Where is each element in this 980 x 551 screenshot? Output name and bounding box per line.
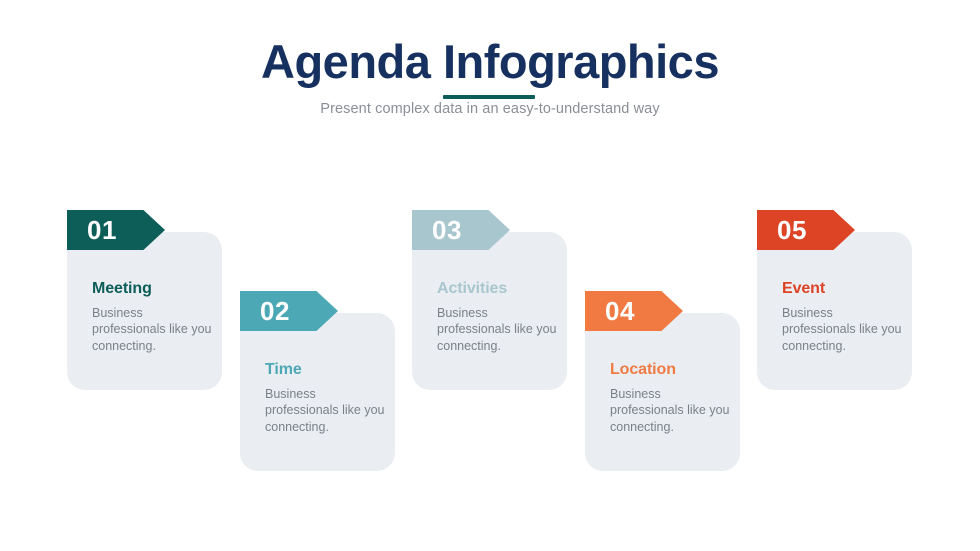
agenda-card-number: 05: [777, 217, 807, 243]
agenda-card-number: 01: [87, 217, 117, 243]
agenda-card-text: Business professionals like you connecti…: [265, 386, 385, 437]
agenda-card-content: EventBusiness professionals like you con…: [782, 280, 902, 355]
agenda-card-number: 03: [432, 217, 462, 243]
agenda-card-number: 04: [605, 298, 635, 324]
agenda-card-text: Business professionals like you connecti…: [610, 386, 730, 437]
agenda-card-title: Location: [610, 361, 730, 379]
agenda-card-text: Business professionals like you connecti…: [437, 305, 557, 356]
agenda-card-text: Business professionals like you connecti…: [782, 305, 902, 356]
agenda-card-content: TimeBusiness professionals like you conn…: [265, 361, 385, 436]
agenda-card-list: MeetingBusiness professionals like you c…: [0, 0, 980, 551]
agenda-card-content: MeetingBusiness professionals like you c…: [92, 280, 212, 355]
agenda-card-content: ActivitiesBusiness professionals like yo…: [437, 280, 557, 355]
agenda-card-title: Time: [265, 361, 385, 379]
agenda-card-title: Event: [782, 280, 902, 298]
agenda-card-content: LocationBusiness professionals like you …: [610, 361, 730, 436]
slide-canvas: Agenda Infographics Present complex data…: [0, 0, 980, 551]
agenda-card-text: Business professionals like you connecti…: [92, 305, 212, 356]
agenda-card-number: 02: [260, 298, 290, 324]
agenda-card-title: Activities: [437, 280, 557, 298]
agenda-card-title: Meeting: [92, 280, 212, 298]
